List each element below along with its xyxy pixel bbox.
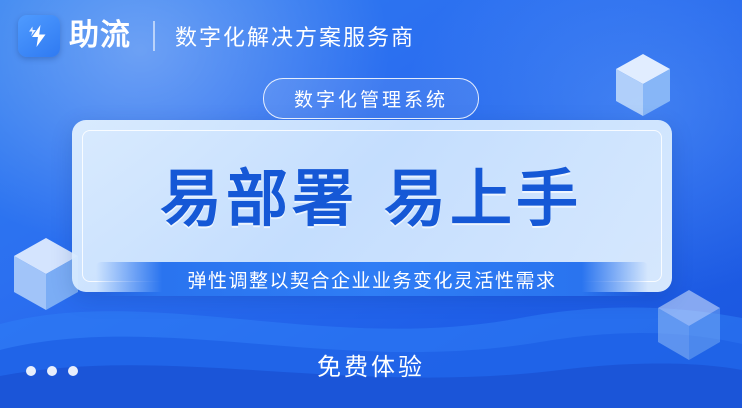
hero-headline: 易部署易上手 — [0, 148, 742, 238]
header-divider — [153, 21, 155, 51]
brand-header: 助流 数字化解决方案服务商 — [18, 10, 415, 62]
brand-tagline: 数字化解决方案服务商 — [175, 20, 415, 52]
carousel-dot[interactable] — [68, 366, 78, 376]
hero-pill-label: 数字化管理系统 — [263, 78, 479, 119]
promo-banner: 助流 数字化解决方案服务商 数字化管理系统 易部署易上手 弹性调整以契合企业业务… — [0, 0, 742, 408]
hero-subtitle-bar: 弹性调整以契合企业业务变化灵活性需求 — [96, 262, 648, 296]
hero-headline-right: 易上手 — [384, 165, 582, 234]
hero-subtitle: 弹性调整以契合企业业务变化灵活性需求 — [187, 266, 556, 293]
carousel-dot[interactable] — [47, 366, 57, 376]
hero-headline-left: 易部署 — [160, 165, 358, 234]
carousel-dots[interactable] — [26, 366, 78, 376]
lightning-bolt-icon — [26, 23, 52, 49]
cube-top-right-icon — [612, 52, 674, 120]
logo-mark — [18, 15, 60, 57]
cta-button[interactable]: 免费体验 — [0, 347, 742, 382]
logo-text: 助流 — [69, 21, 131, 51]
carousel-dot[interactable] — [26, 366, 36, 376]
